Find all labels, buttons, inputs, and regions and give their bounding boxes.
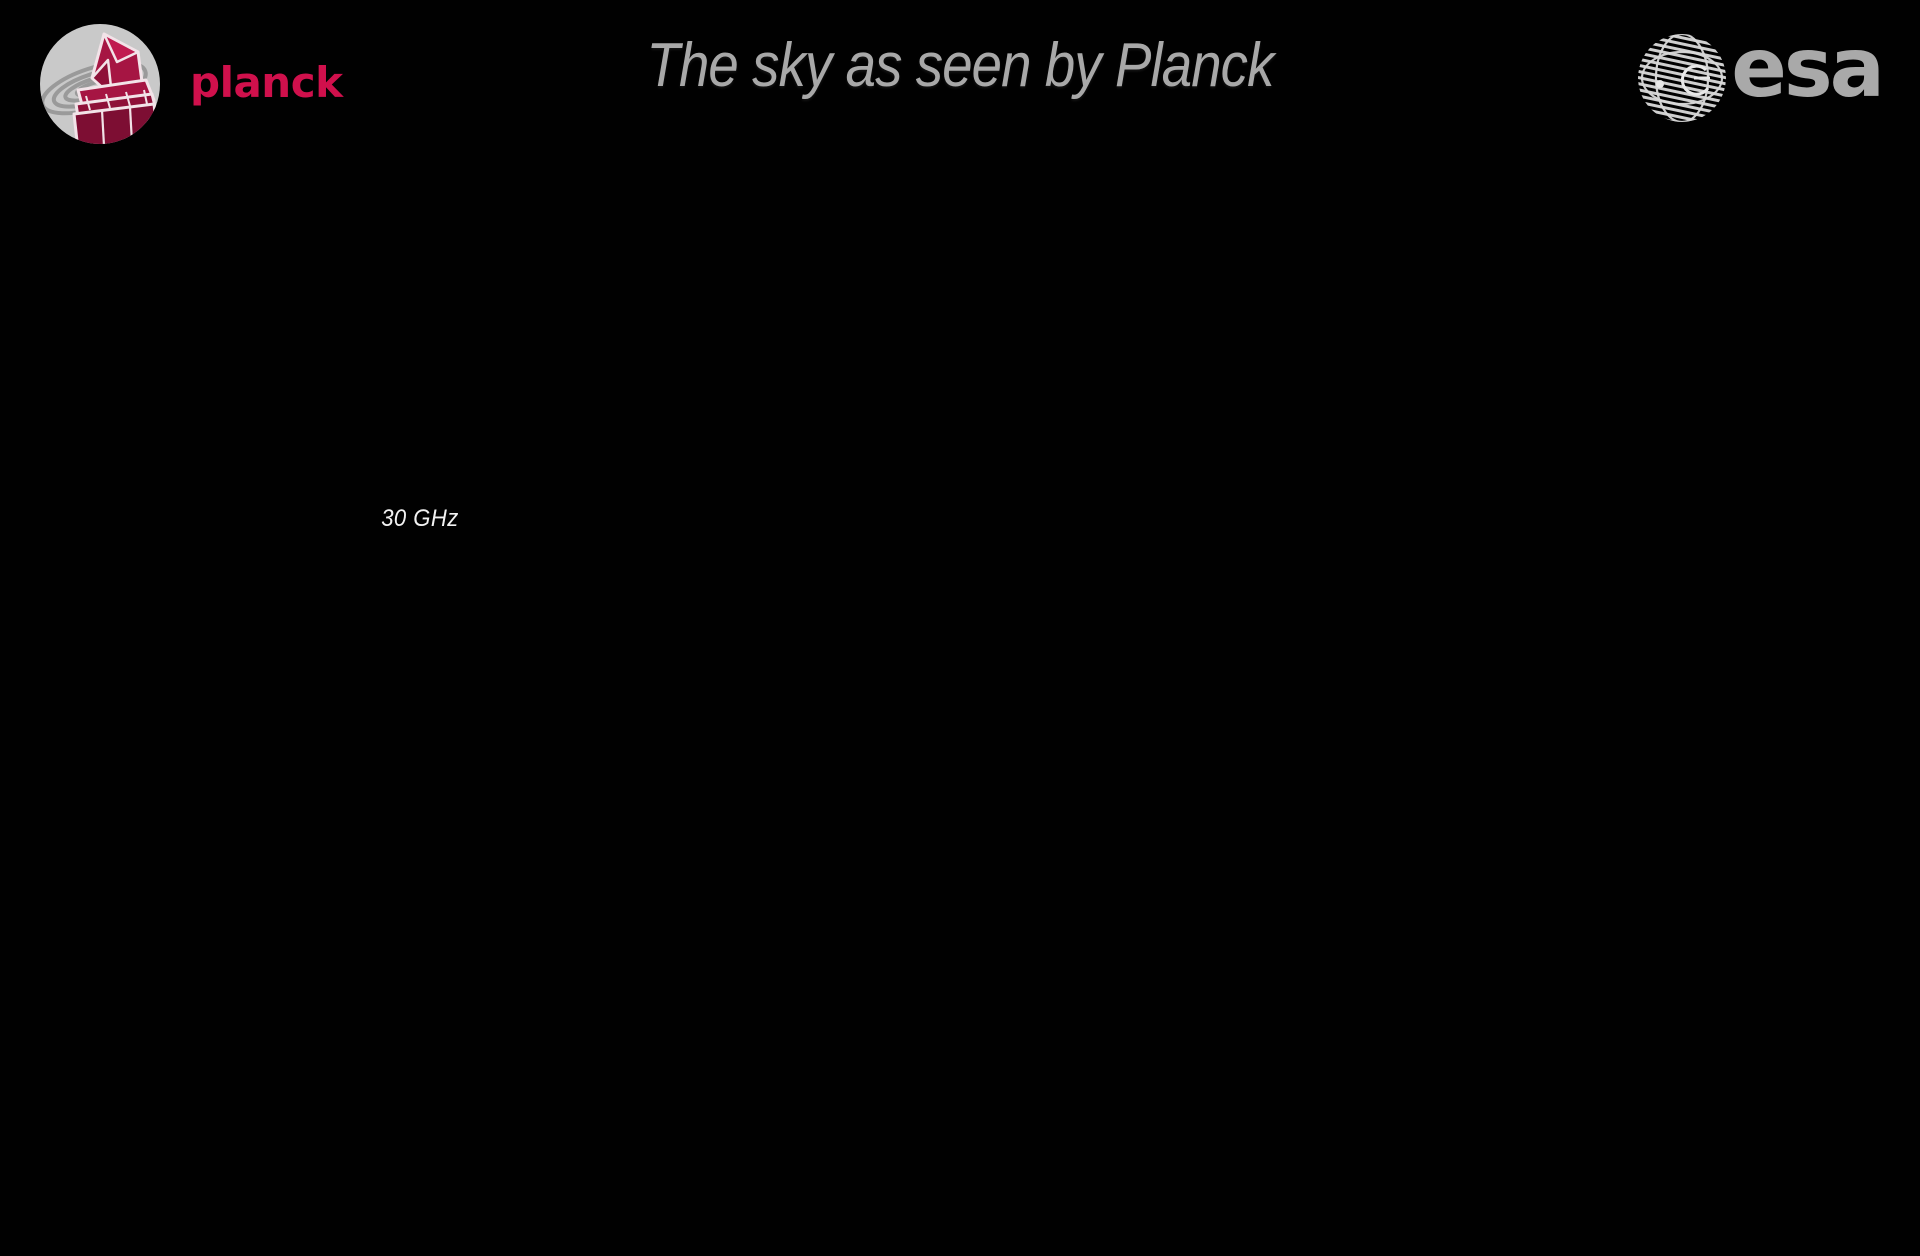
sky-map-grid: 30 GHz: [0, 0, 1920, 1256]
mollweide-map-image: [160, 237, 680, 497]
mollweide-map-canvas: [160, 237, 680, 497]
map-frequency-label: 30 GHz: [181, 505, 659, 533]
sky-map-panel-30ghz: 30 GHz: [160, 237, 680, 545]
